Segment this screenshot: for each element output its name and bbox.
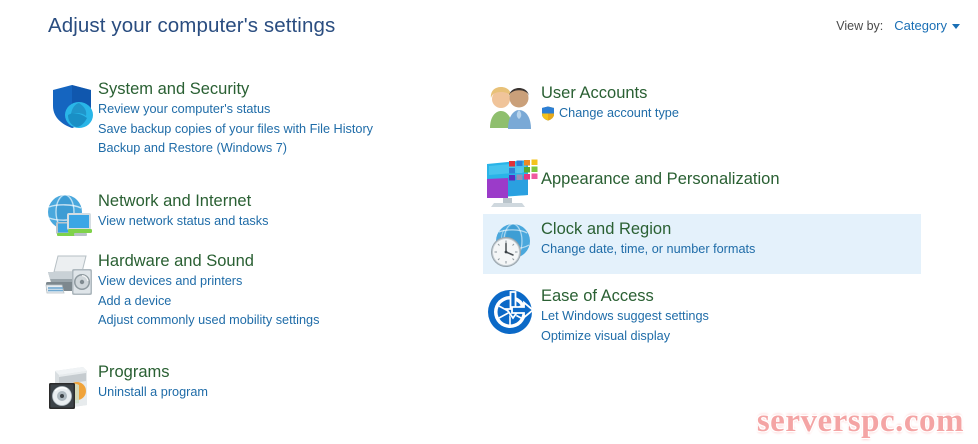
programs-box-icon [40,361,98,413]
category-body: Network and Internet View network status… [98,190,268,240]
category-body: User Accounts Change account type [541,82,679,132]
clock-globe-icon [483,218,541,270]
link-network-status[interactable]: View network status and tasks [98,212,268,232]
printer-icon [40,250,98,331]
category-hardware-and-sound[interactable]: Hardware and Sound View devices and prin… [40,250,478,331]
category-network-and-internet[interactable]: Network and Internet View network status… [40,190,478,240]
view-by-value[interactable]: Category [894,18,947,33]
view-by-control: View by: Category [836,17,960,35]
category-body: System and Security Review your computer… [98,78,373,159]
category-system-and-security[interactable]: System and Security Review your computer… [40,78,478,159]
category-body: Appearance and Personalization [541,155,780,209]
category-title[interactable]: Ease of Access [541,286,709,307]
view-by-dropdown[interactable]: Category [894,17,960,35]
category-body: Hardware and Sound View devices and prin… [98,250,319,331]
category-title[interactable]: System and Security [98,79,373,100]
chevron-down-icon[interactable] [952,24,960,29]
link-optimize-visual-display[interactable]: Optimize visual display [541,327,709,347]
category-title[interactable]: Programs [98,362,208,383]
watermark: serverspc.com [757,403,964,440]
link-devices-printers[interactable]: View devices and printers [98,272,319,292]
link-windows-suggest-settings[interactable]: Let Windows suggest settings [541,307,709,327]
link-mobility-settings[interactable]: Adjust commonly used mobility settings [98,311,319,331]
users-icon [483,82,541,132]
category-body: Clock and Region Change date, time, or n… [541,218,755,260]
category-programs[interactable]: Programs Uninstall a program [40,361,478,413]
category-ease-of-access[interactable]: Ease of Access Let Windows suggest setti… [483,285,921,346]
category-body: Programs Uninstall a program [98,361,208,413]
category-title[interactable]: User Accounts [541,83,679,104]
shield-icon [40,78,98,159]
category-clock-and-region[interactable]: Clock and Region Change date, time, or n… [483,214,921,274]
link-backup-restore[interactable]: Backup and Restore (Windows 7) [98,139,373,159]
ease-of-access-icon [483,285,541,346]
category-appearance-and-personalization[interactable]: Appearance and Personalization [483,155,921,209]
category-user-accounts[interactable]: User Accounts Change account type [483,82,921,132]
link-add-device[interactable]: Add a device [98,292,319,312]
link-review-status[interactable]: Review your computer's status [98,100,373,120]
link-uninstall-program[interactable]: Uninstall a program [98,383,208,403]
view-by-label: View by: [836,19,883,33]
category-title[interactable]: Clock and Region [541,219,755,240]
link-change-account-type[interactable]: Change account type [541,104,679,124]
link-label: Change account type [559,104,679,124]
category-title[interactable]: Network and Internet [98,191,268,212]
page-title: Adjust your computer's settings [48,14,335,38]
network-globe-icon [40,190,98,240]
monitor-palette-icon [483,155,541,209]
link-change-date-time-formats[interactable]: Change date, time, or number formats [541,240,755,260]
link-file-history[interactable]: Save backup copies of your files with Fi… [98,120,373,140]
category-title[interactable]: Hardware and Sound [98,251,319,272]
uac-shield-icon [541,106,555,121]
category-body: Ease of Access Let Windows suggest setti… [541,285,709,346]
header: Adjust your computer's settings View by:… [0,0,978,58]
category-title[interactable]: Appearance and Personalization [541,169,780,190]
